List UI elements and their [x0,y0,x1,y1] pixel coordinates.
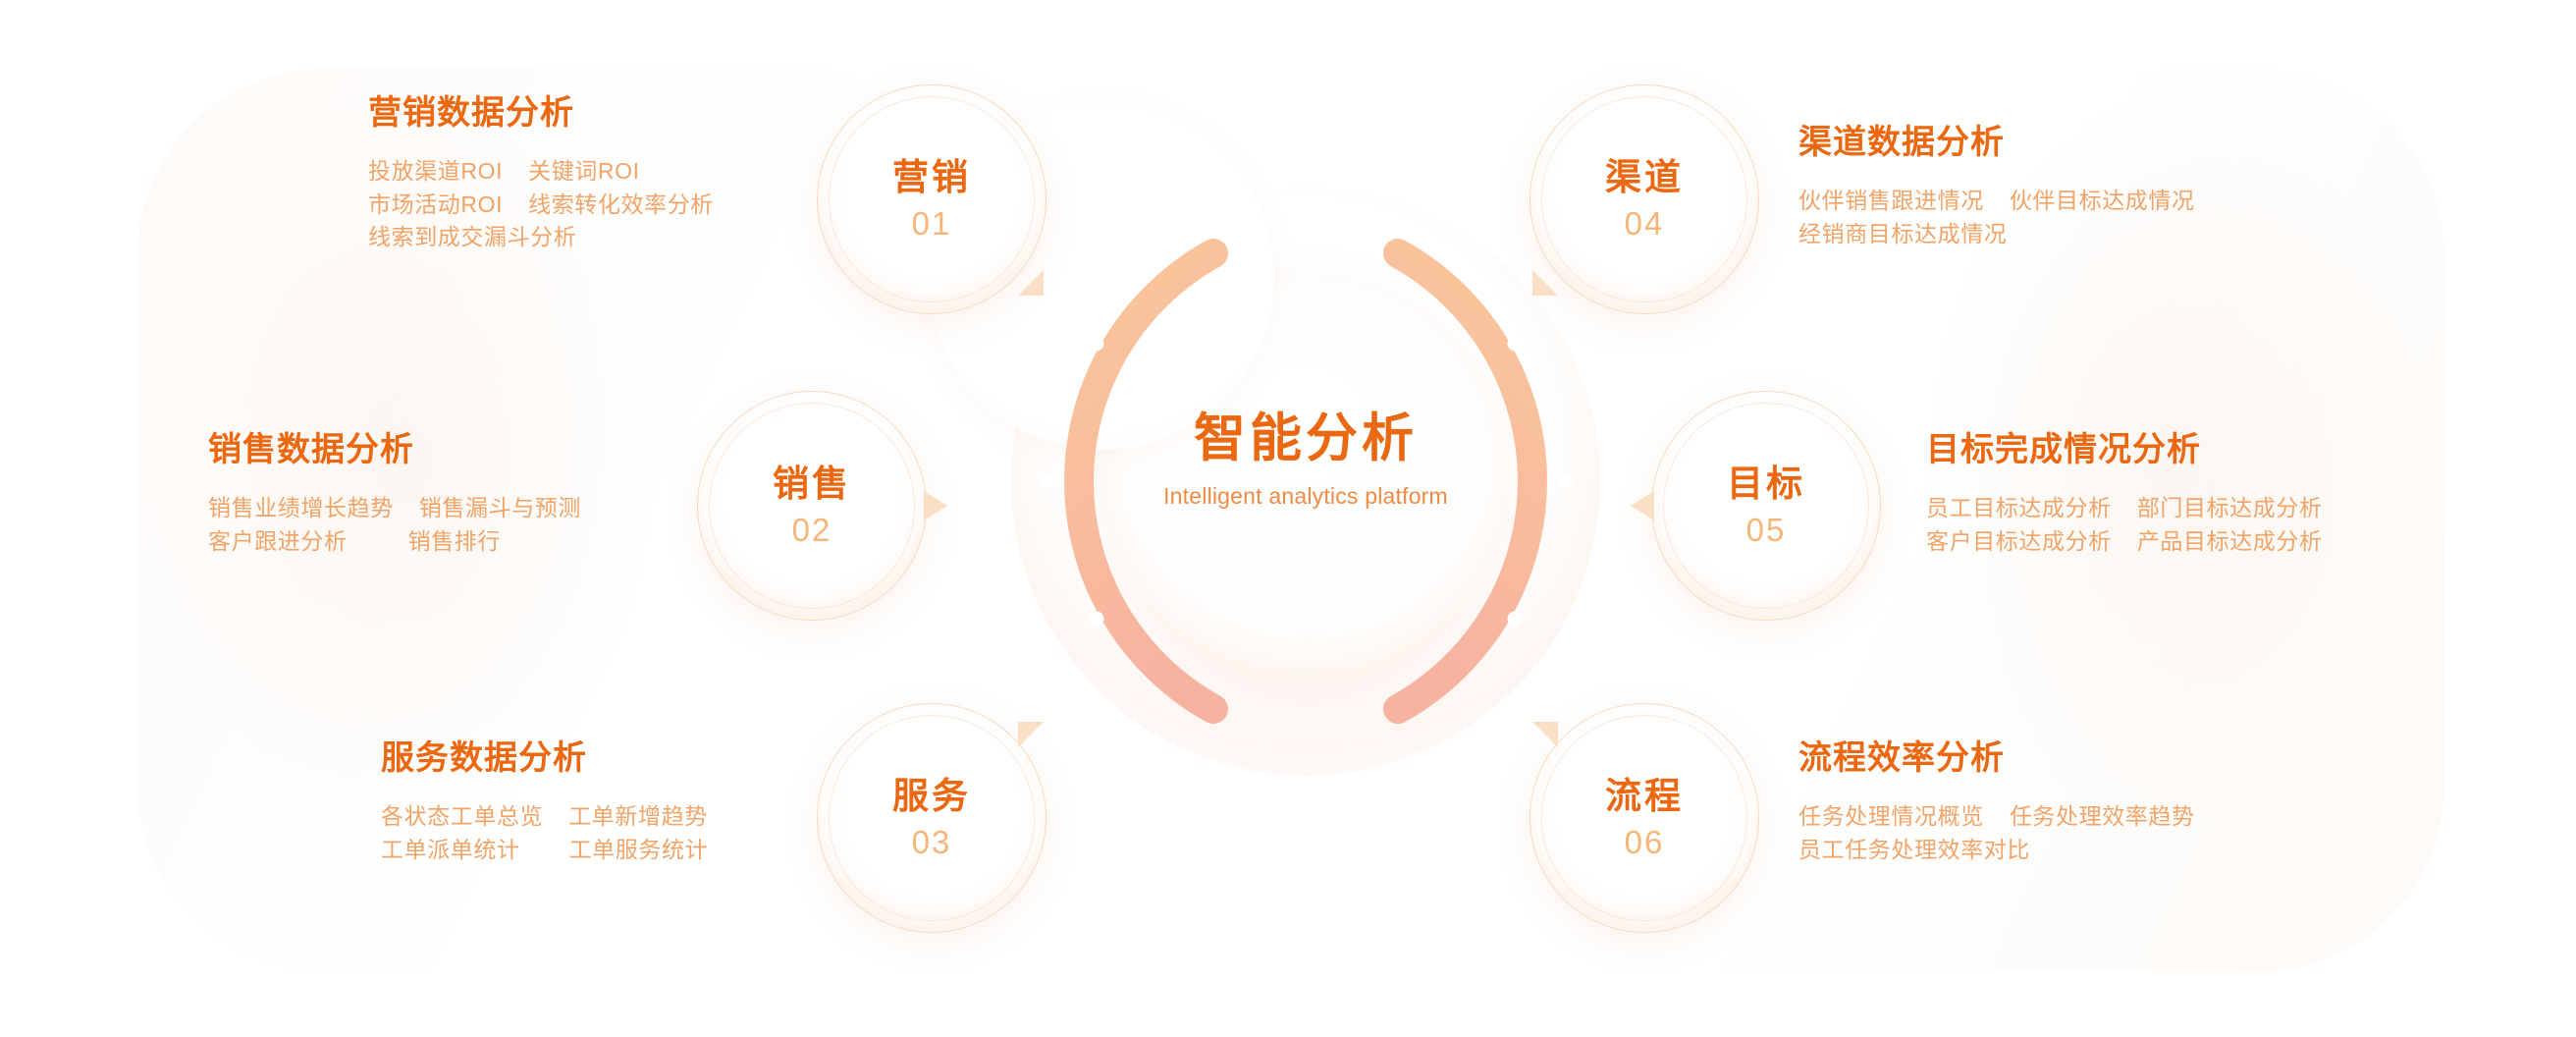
info-block-sales: 销售数据分析 销售业绩增长趋势销售漏斗与预测 客户跟进分析销售排行 [208,430,817,558]
node-number-05: 05 [1746,514,1787,546]
item: 销售业绩增长趋势 [208,495,394,520]
item: 关键词ROI [528,158,640,184]
item: 各状态工单总览 [381,803,543,829]
block-row: 投放渠道ROI关键词ROI [368,155,977,189]
block-row: 销售业绩增长趋势销售漏斗与预测 [208,492,817,525]
node-label-05: 目标 [1727,465,1805,502]
item: 伙伴销售跟进情况 [1798,188,1984,213]
item: 投放渠道ROI [368,158,503,184]
item: 销售漏斗与预测 [419,495,581,520]
node-circle-05[interactable]: 目标 05 [1651,391,1881,621]
block-title-service: 服务数据分析 [381,738,990,779]
block-row: 市场活动ROI线索转化效率分析 [368,189,977,222]
item: 任务处理效率趋势 [2010,803,2195,829]
item: 伙伴目标达成情况 [2010,188,2195,213]
pointer-triangle-icon [1018,270,1044,296]
arc-dot [1558,474,1573,489]
block-row: 经销商目标达成情况 [1798,218,2407,251]
block-title-sales: 销售数据分析 [208,430,817,470]
block-title-process: 流程效率分析 [1798,738,2407,779]
pointer-triangle-icon [924,491,947,520]
block-title-marketing: 营销数据分析 [368,93,977,134]
item: 市场活动ROI [368,191,503,217]
arc-dot [1040,474,1054,489]
block-row: 任务处理情况概览任务处理效率趋势 [1798,800,2407,834]
item: 客户跟进分析 [208,528,348,554]
block-title-target: 目标完成情况分析 [1926,430,2535,470]
block-title-channel: 渠道数据分析 [1798,123,2407,163]
item: 员工目标达成分析 [1926,495,2112,520]
item: 员工任务处理效率对比 [1798,837,2030,862]
block-items-service: 各状态工单总览工单新增趋势 工单派单统计工单服务统计 [381,800,990,867]
node-label-06: 流程 [1605,778,1684,814]
item: 工单服务统计 [569,837,709,862]
pointer-triangle-icon [1631,491,1654,520]
info-block-target: 目标完成情况分析 员工目标达成分析部门目标达成分析 客户目标达成分析产品目标达成… [1926,430,2535,558]
node-number-04: 04 [1625,207,1665,240]
center-arc-ring [982,157,1630,805]
info-block-marketing: 营销数据分析 投放渠道ROI关键词ROI 市场活动ROI线索转化效率分析 线索到… [368,93,977,254]
item: 任务处理情况概览 [1798,803,1984,829]
node-circle-04[interactable]: 渠道 04 [1529,84,1759,314]
block-row: 各状态工单总览工单新增趋势 [381,800,990,834]
item: 工单派单统计 [381,837,520,862]
item: 客户目标达成分析 [1926,528,2112,554]
block-items-sales: 销售业绩增长趋势销售漏斗与预测 客户跟进分析销售排行 [208,492,817,559]
block-row: 员工任务处理效率对比 [1798,834,2407,867]
item: 销售排行 [408,528,501,554]
block-items-channel: 伙伴销售跟进情况伙伴目标达成情况 经销商目标达成情况 [1798,185,2407,251]
block-row: 员工目标达成分析部门目标达成分析 [1926,492,2535,525]
block-items-marketing: 投放渠道ROI关键词ROI 市场活动ROI线索转化效率分析 线索到成交漏斗分析 [368,155,977,254]
info-block-channel: 渠道数据分析 伙伴销售跟进情况伙伴目标达成情况 经销商目标达成情况 [1798,123,2407,250]
block-row: 工单派单统计工单服务统计 [381,834,990,867]
arc-right [1398,253,1532,709]
block-row: 伙伴销售跟进情况伙伴目标达成情况 [1798,185,2407,218]
pointer-triangle-icon [1018,722,1044,747]
arc-left [1079,253,1213,709]
pointer-triangle-icon [1532,270,1558,296]
arc-dot [1508,612,1523,627]
item: 部门目标达成分析 [2137,495,2323,520]
infographic-canvas: 智能分析 Intelligent analytics platform 营销 0… [0,0,2576,1037]
item: 线索转化效率分析 [528,191,714,217]
arc-dot [1090,337,1104,352]
node-number-06: 06 [1625,826,1665,858]
info-block-service: 服务数据分析 各状态工单总览工单新增趋势 工单派单统计工单服务统计 [381,738,990,866]
arc-dot [1508,337,1523,352]
info-block-process: 流程效率分析 任务处理情况概览任务处理效率趋势 员工任务处理效率对比 [1798,738,2407,866]
pointer-triangle-icon [1532,722,1558,747]
arc-dot [1090,612,1104,627]
item: 工单新增趋势 [568,803,708,829]
node-label-04: 渠道 [1605,159,1684,195]
item: 线索到成交漏斗分析 [368,224,576,249]
block-row: 客户跟进分析销售排行 [208,525,817,559]
item: 产品目标达成分析 [2137,528,2323,554]
node-circle-06[interactable]: 流程 06 [1529,703,1759,933]
block-items-target: 员工目标达成分析部门目标达成分析 客户目标达成分析产品目标达成分析 [1926,492,2535,559]
block-row: 客户目标达成分析产品目标达成分析 [1926,525,2535,559]
block-items-process: 任务处理情况概览任务处理效率趋势 员工任务处理效率对比 [1798,800,2407,867]
item: 经销商目标达成情况 [1798,221,2007,246]
block-row: 线索到成交漏斗分析 [368,221,977,254]
